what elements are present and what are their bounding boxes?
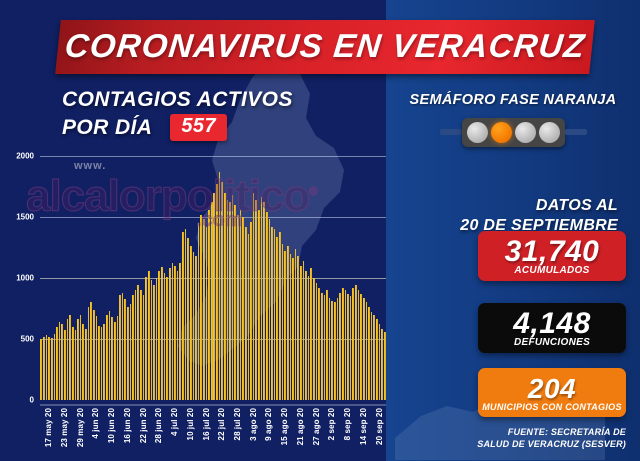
traffic-light-arm-right bbox=[565, 129, 587, 135]
chart-bar bbox=[300, 266, 302, 400]
chart-x-tick-label: 4 jul 20 bbox=[170, 408, 179, 436]
source-credit-line1: FUENTE: SECRETARÍA DE bbox=[436, 427, 626, 439]
chart-bar bbox=[80, 315, 82, 400]
chart-x-tick-label: 16 jun 20 bbox=[123, 408, 132, 443]
source-credit: FUENTE: SECRETARÍA DE SALUD DE VERACRUZ … bbox=[436, 427, 626, 450]
chart-bar bbox=[219, 172, 221, 400]
chart-bar bbox=[151, 280, 153, 400]
chart-bar bbox=[82, 324, 84, 400]
chart-bar bbox=[198, 223, 200, 400]
chart-bar bbox=[347, 294, 349, 400]
chart-bar bbox=[148, 271, 150, 400]
chart-bar bbox=[46, 335, 48, 400]
chart-bar bbox=[75, 330, 77, 400]
chart-x-tick-label: 14 sep 20 bbox=[359, 408, 368, 445]
stat-defunciones-label: DEFUNCIONES bbox=[482, 337, 622, 348]
chart-bar bbox=[371, 312, 373, 400]
chart-bar bbox=[331, 301, 333, 400]
chart-bar bbox=[114, 322, 116, 400]
chart-bar bbox=[77, 319, 79, 400]
chart-bar bbox=[64, 330, 66, 400]
chart-x-tick-label: 4 jun 20 bbox=[91, 408, 100, 439]
chart-bar bbox=[213, 193, 215, 400]
chart-bar bbox=[355, 285, 357, 400]
traffic-light-lamp-1 bbox=[467, 122, 488, 143]
chart-x-tick-label: 28 jun 20 bbox=[154, 408, 163, 443]
chart-bar bbox=[373, 315, 375, 400]
chart-bar bbox=[137, 285, 139, 400]
chart-bar bbox=[172, 263, 174, 400]
chart-x-tick-label: 22 jun 20 bbox=[139, 408, 148, 443]
chart-bar bbox=[366, 302, 368, 400]
chart-bar bbox=[227, 200, 229, 400]
chart-bar bbox=[169, 268, 171, 400]
chart-bar bbox=[132, 295, 134, 400]
chart-x-tick-label: 10 jun 20 bbox=[107, 408, 116, 443]
stat-defunciones-number: 4,148 bbox=[482, 308, 622, 339]
chart-bar bbox=[334, 302, 336, 400]
chart-bar bbox=[206, 227, 208, 400]
chart-bar bbox=[376, 319, 378, 400]
chart-bar bbox=[119, 295, 121, 400]
chart-bar bbox=[111, 317, 113, 400]
chart-bar bbox=[203, 219, 205, 400]
stat-card-acumulados: 31,740 ACUMULADOS bbox=[478, 231, 626, 281]
semaforo-title: SEMÁFORO FASE NARANJA bbox=[386, 92, 640, 108]
chart-bar bbox=[72, 327, 74, 400]
chart-bar bbox=[282, 244, 284, 400]
chart-bar bbox=[177, 271, 179, 400]
chart-bar bbox=[242, 217, 244, 400]
chart-bar bbox=[339, 293, 341, 400]
chart-bar bbox=[208, 210, 210, 400]
chart-bar bbox=[109, 311, 111, 400]
chart-bar bbox=[179, 263, 181, 400]
chart-x-axis-labels: 17 may 2023 may 2029 may 204 jun 2010 ju… bbox=[0, 406, 386, 461]
chart-x-tick-label: 16 jul 20 bbox=[202, 408, 211, 440]
chart-bar bbox=[305, 271, 307, 400]
chart-bar bbox=[211, 202, 213, 400]
chart-bar bbox=[93, 310, 95, 400]
chart-bar bbox=[224, 193, 226, 400]
chart-bar bbox=[284, 251, 286, 400]
chart-bar bbox=[318, 288, 320, 400]
chart-bar bbox=[164, 273, 166, 400]
stat-card-municipios: 204 MUNICIPIOS CON CONTAGIOS bbox=[478, 368, 626, 417]
chart-bar bbox=[266, 212, 268, 400]
chart-bar bbox=[290, 254, 292, 400]
chart-bar bbox=[98, 326, 100, 400]
chart-bar bbox=[329, 298, 331, 400]
chart-bar bbox=[292, 258, 294, 400]
chart-bar bbox=[40, 339, 42, 400]
report-date: DATOS AL 20 DE SEPTIEMBRE bbox=[386, 196, 630, 236]
chart-bar bbox=[271, 227, 273, 400]
chart-bar bbox=[117, 316, 119, 400]
source-credit-line2: SALUD DE VERACRUZ (SESVER) bbox=[436, 439, 626, 451]
chart-bar bbox=[258, 210, 260, 400]
chart-bar bbox=[255, 200, 257, 400]
chart-bar bbox=[337, 298, 339, 400]
chart-y-tick-label: 1000 bbox=[4, 274, 34, 283]
chart-bar bbox=[316, 283, 318, 400]
chart-bar bbox=[250, 222, 252, 400]
chart-bar bbox=[122, 293, 124, 400]
chart-bar bbox=[345, 290, 347, 400]
chart-bar bbox=[232, 195, 234, 400]
traffic-light-lamp-2-orange-active bbox=[491, 122, 512, 143]
chart-bar bbox=[248, 234, 250, 400]
chart-bar bbox=[276, 237, 278, 400]
chart-heading-line2: POR DÍA bbox=[62, 116, 152, 140]
chart-bar bbox=[56, 327, 58, 400]
chart-gridline-overlay bbox=[40, 339, 386, 340]
title-banner: CORONAVIRUS EN VERACRUZ bbox=[58, 20, 592, 74]
chart-bar bbox=[358, 290, 360, 400]
traffic-light bbox=[386, 115, 640, 149]
active-cases-badge: 557 bbox=[170, 114, 227, 141]
chart-x-tick-label: 23 may 20 bbox=[60, 408, 69, 447]
chart-bar bbox=[295, 249, 297, 400]
chart-x-tick-label: 10 jul 20 bbox=[186, 408, 195, 440]
chart-x-tick-label: 17 may 20 bbox=[44, 408, 53, 447]
chart-x-tick-label: 29 may 20 bbox=[76, 408, 85, 447]
chart-bar bbox=[261, 197, 263, 400]
stat-card-defunciones: 4,148 DEFUNCIONES bbox=[478, 303, 626, 353]
chart-bar bbox=[59, 322, 61, 400]
chart-bar bbox=[234, 205, 236, 400]
chart-y-tick-label: 500 bbox=[4, 335, 34, 344]
chart-heading-line1: CONTAGIOS ACTIVOS bbox=[62, 88, 293, 112]
chart-bar bbox=[187, 238, 189, 400]
chart-bar bbox=[101, 327, 103, 400]
chart-x-tick-label: 20 sep 20 bbox=[375, 408, 384, 445]
report-date-line1: DATOS AL bbox=[386, 196, 618, 216]
chart-x-tick-label: 9 ago 20 bbox=[264, 408, 273, 441]
chart-bar bbox=[200, 215, 202, 400]
chart-y-tick-label: 1500 bbox=[4, 213, 34, 222]
chart-bar bbox=[326, 290, 328, 400]
chart-bar bbox=[321, 293, 323, 400]
chart-bar bbox=[287, 246, 289, 400]
chart-bar bbox=[193, 252, 195, 400]
chart-bar bbox=[352, 288, 354, 400]
traffic-light-lamp-4 bbox=[539, 122, 560, 143]
chart-gridline-overlay bbox=[40, 278, 386, 279]
chart-x-tick-label: 8 sep 20 bbox=[343, 408, 352, 440]
chart-bar bbox=[174, 266, 176, 400]
chart-bar bbox=[342, 288, 344, 400]
chart-bar bbox=[67, 319, 69, 400]
stat-municipios-label: MUNICIPIOS CON CONTAGIOS bbox=[482, 402, 622, 412]
chart-bar bbox=[153, 285, 155, 400]
chart-y-tick-label: 2000 bbox=[4, 152, 34, 161]
chart-y-tick-label: 0 bbox=[4, 396, 34, 405]
bar-chart: 0500100015002000 bbox=[0, 150, 386, 406]
chart-x-tick-label: 22 jul 20 bbox=[217, 408, 226, 440]
chart-bar bbox=[368, 307, 370, 400]
chart-gridline bbox=[40, 156, 386, 157]
chart-x-tick-label: 21 ago 20 bbox=[296, 408, 305, 445]
chart-bar bbox=[253, 193, 255, 400]
chart-bar bbox=[124, 299, 126, 400]
chart-bar bbox=[54, 334, 56, 400]
stat-acumulados-number: 31,740 bbox=[482, 236, 622, 267]
chart-bar bbox=[130, 304, 132, 400]
chart-bar bbox=[360, 294, 362, 400]
chart-bar bbox=[216, 184, 218, 400]
chart-bar bbox=[237, 215, 239, 400]
stat-acumulados-label: ACUMULADOS bbox=[482, 265, 622, 276]
chart-bar bbox=[324, 295, 326, 400]
chart-bar bbox=[350, 296, 352, 400]
chart-bar bbox=[48, 337, 50, 400]
chart-bar bbox=[43, 337, 45, 400]
stat-municipios-number: 204 bbox=[482, 373, 622, 404]
chart-bar bbox=[240, 210, 242, 400]
chart-bar bbox=[384, 332, 386, 400]
chart-bar bbox=[221, 182, 223, 400]
chart-bar bbox=[310, 268, 312, 400]
chart-bar bbox=[143, 295, 145, 400]
chart-bar bbox=[245, 227, 247, 400]
chart-bar bbox=[127, 307, 129, 400]
chart-bar bbox=[303, 261, 305, 400]
chart-bar bbox=[106, 315, 108, 400]
infographic-canvas: 0500100015002000 www. alcalorpolitico® .… bbox=[0, 0, 640, 461]
traffic-light-arm-left bbox=[440, 129, 462, 135]
chart-x-tick-label: 15 ago 20 bbox=[280, 408, 289, 445]
chart-bar bbox=[90, 302, 92, 400]
chart-bar bbox=[61, 324, 63, 400]
chart-bar bbox=[140, 290, 142, 400]
chart-bar bbox=[190, 246, 192, 400]
page-title: CORONAVIRUS EN VERACRUZ bbox=[55, 20, 595, 74]
chart-bar bbox=[135, 290, 137, 400]
chart-bar bbox=[158, 271, 160, 400]
chart-x-tick-label: 3 ago 20 bbox=[249, 408, 258, 441]
chart-x-tick-label: 27 ago 20 bbox=[312, 408, 321, 445]
chart-x-tick-label: 2 sep 20 bbox=[327, 408, 336, 440]
chart-bar bbox=[263, 202, 265, 400]
chart-bar bbox=[182, 232, 184, 400]
chart-x-tick-label: 28 jul 20 bbox=[233, 408, 242, 440]
chart-bar bbox=[185, 229, 187, 400]
chart-bar bbox=[96, 316, 98, 400]
chart-bar bbox=[51, 338, 53, 400]
chart-bar bbox=[88, 307, 90, 400]
chart-bar bbox=[363, 298, 365, 400]
chart-bar bbox=[279, 232, 281, 400]
chart-bar bbox=[269, 219, 271, 400]
chart-bar bbox=[274, 229, 276, 400]
chart-bar bbox=[69, 315, 71, 400]
chart-bar bbox=[308, 276, 310, 400]
traffic-light-lamp-3 bbox=[515, 122, 536, 143]
chart-heading-group: CONTAGIOS ACTIVOS POR DÍA 557 bbox=[62, 88, 293, 141]
chart-bar bbox=[229, 202, 231, 400]
chart-bar bbox=[161, 267, 163, 400]
traffic-light-body bbox=[462, 118, 565, 147]
chart-bar bbox=[379, 324, 381, 400]
chart-bar bbox=[103, 324, 105, 400]
